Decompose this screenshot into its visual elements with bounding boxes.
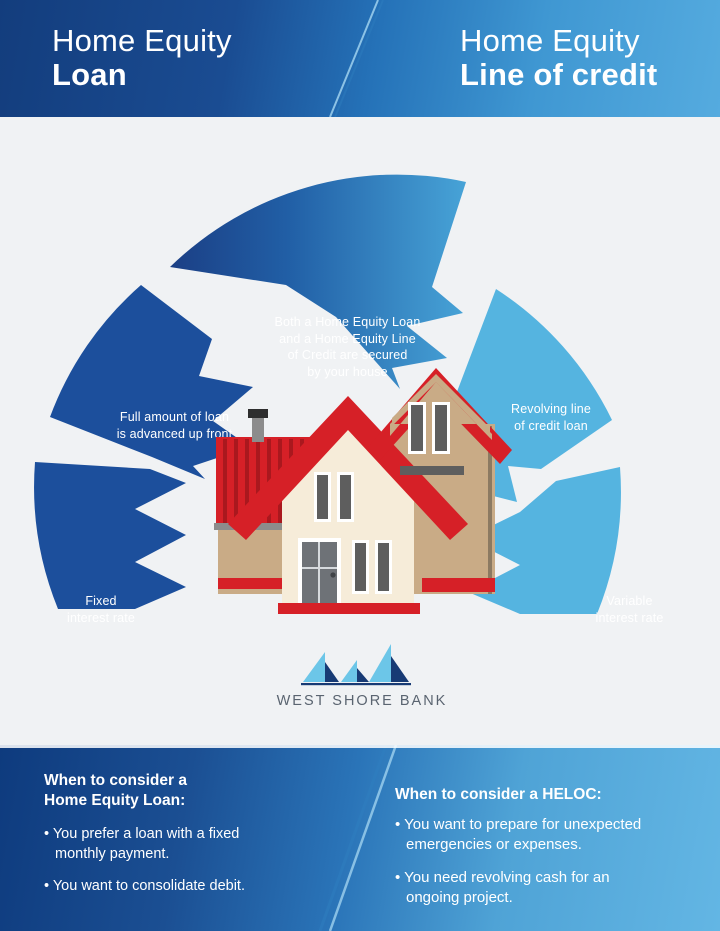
- header-right-line1: Home Equity: [460, 25, 720, 58]
- bottom-right-bullet-2: • You need revolving cash for an ongoing…: [395, 868, 706, 908]
- bottom-right-heading: When to consider a HELOC:: [395, 785, 706, 805]
- front-door: [298, 538, 341, 606]
- header-right-title: Home Equity Line of credit: [360, 0, 720, 117]
- bottom-left-bullet-1: • You prefer a loan with a fixed monthly…: [44, 825, 351, 864]
- logo: WEST SHORE BANK: [272, 638, 452, 718]
- wedge-fixed-rate: [34, 462, 186, 609]
- header-left-title: Home Equity Loan: [0, 0, 360, 117]
- bottom-left-heading: When to consider a Home Equity Loan:: [44, 771, 351, 811]
- house-icon: [200, 354, 520, 619]
- header-left-line2: Loan: [52, 58, 360, 92]
- bottom-left-column: When to consider a Home Equity Loan: • Y…: [0, 745, 375, 931]
- infographic-page: Home Equity Loan Home Equity Line of cre…: [0, 0, 720, 931]
- sailboat-logo-icon: [287, 638, 437, 690]
- header-banner: Home Equity Loan Home Equity Line of cre…: [0, 0, 720, 117]
- diagram-panel: Both a Home Equity Loan and a Home Equit…: [0, 117, 720, 745]
- header-right-line2: Line of credit: [460, 58, 720, 92]
- logo-text: WEST SHORE BANK: [277, 693, 448, 709]
- bottom-banner: When to consider a Home Equity Loan: • Y…: [0, 745, 720, 931]
- bottom-right-column: When to consider a HELOC: • You want to …: [375, 745, 720, 931]
- header-left-line1: Home Equity: [52, 25, 360, 58]
- bottom-left-bullet-2: • You want to consolidate debit.: [44, 877, 351, 896]
- bottom-right-bullet-1: • You want to prepare for unexpected eme…: [395, 815, 706, 855]
